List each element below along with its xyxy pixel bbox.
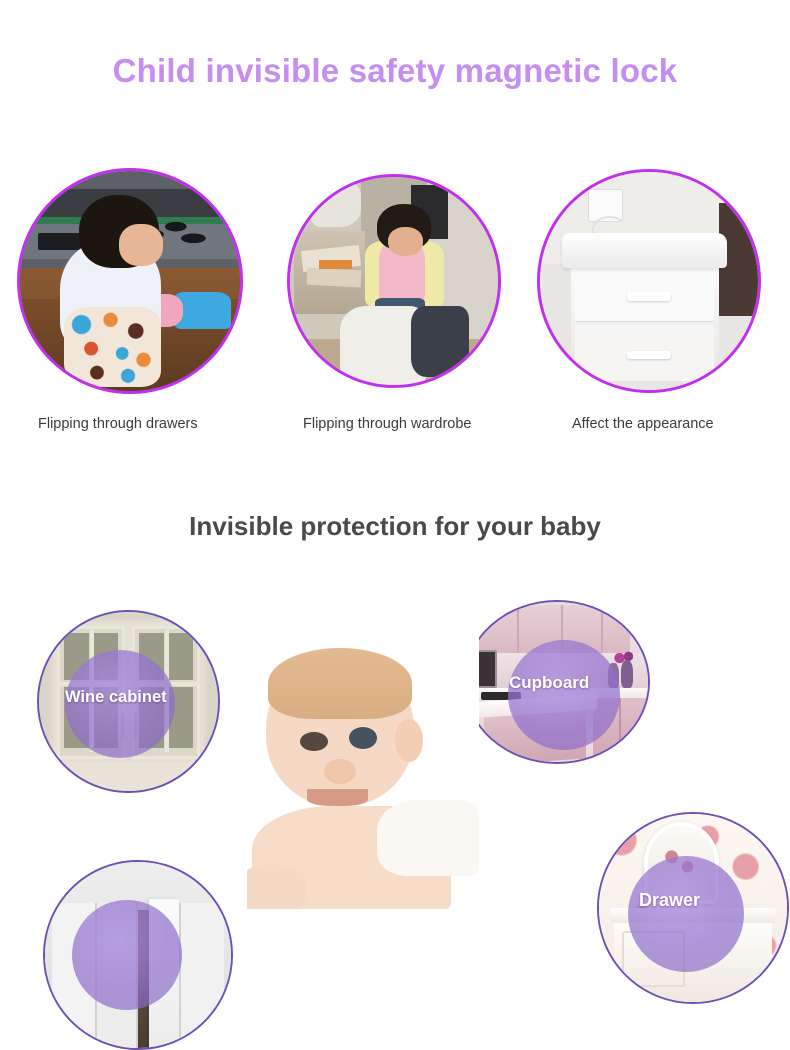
scene-wardrobe-closet xyxy=(43,860,233,1050)
scene-label-drawer: Drawer xyxy=(639,890,700,911)
caption-flipping-through-wardrobe: Flipping through wardrobe xyxy=(303,416,471,432)
caption-flipping-through-drawers: Flipping through drawers xyxy=(38,416,198,432)
photo-child-at-wardrobe xyxy=(287,174,501,388)
scene-label-wine-cabinet: Wine cabinet xyxy=(65,688,167,707)
page-title: Child invisible safety magnetic lock xyxy=(0,52,790,90)
problem-image-wardrobe xyxy=(287,174,501,388)
problem-image-row xyxy=(0,168,790,398)
photo-child-at-drawers xyxy=(17,168,243,394)
photo-crawling-baby xyxy=(247,637,479,909)
problem-image-drawers xyxy=(17,168,243,394)
caption-affect-the-appearance: Affect the appearance xyxy=(572,416,714,432)
scene-label-cupboard: Cupboard xyxy=(509,673,589,693)
section-title: Invisible protection for your baby xyxy=(0,511,790,542)
photo-white-nightstand xyxy=(537,169,761,393)
problem-image-nightstand xyxy=(537,169,761,393)
problem-caption-row: Flipping through drawers Flipping throug… xyxy=(0,416,790,438)
